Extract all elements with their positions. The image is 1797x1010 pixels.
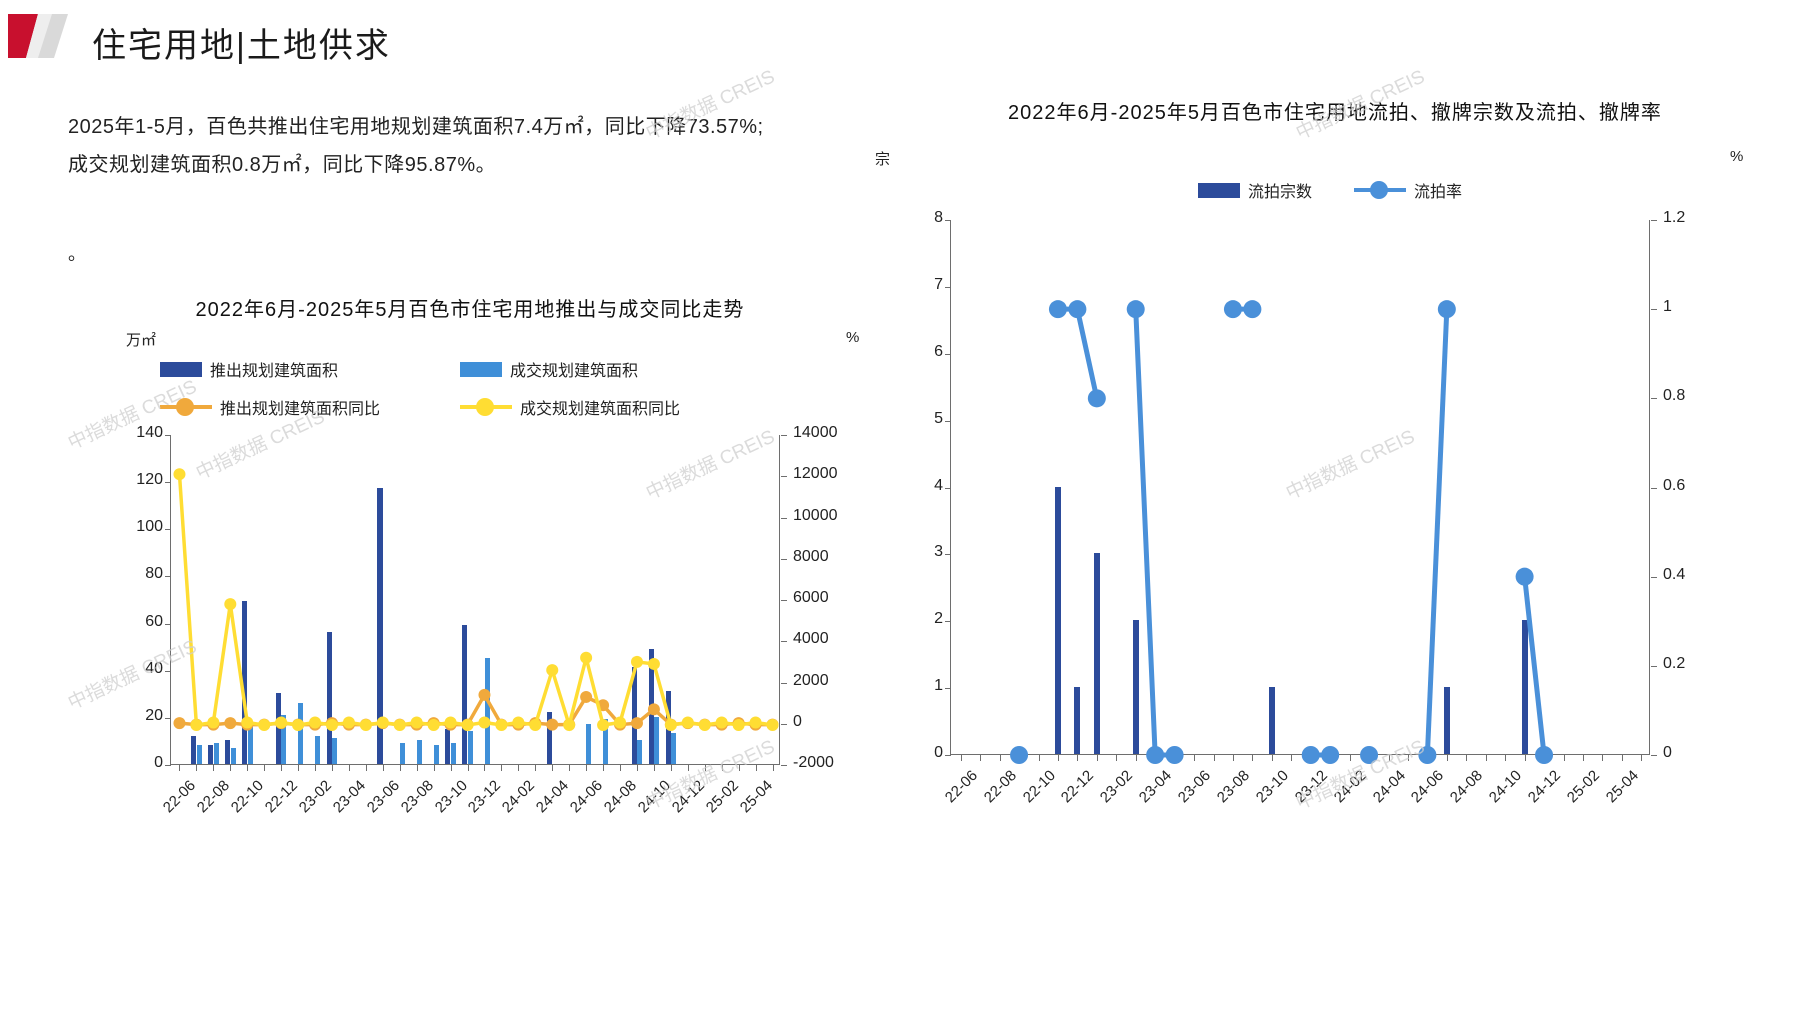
right-chart-plot: 01234567800.20.40.60.811.222-0622-0822-1…	[950, 220, 1650, 755]
data-point	[546, 719, 558, 731]
legend-item-r1[interactable]: 流拍率	[1354, 178, 1462, 202]
data-point	[478, 689, 490, 701]
x-axis-tickmark	[1505, 755, 1506, 761]
data-point	[1166, 746, 1184, 764]
y2-axis-tickmark	[781, 518, 787, 519]
data-point	[224, 717, 236, 729]
legend-swatch-line-blue	[1354, 188, 1406, 192]
data-point	[1360, 746, 1378, 764]
x-axis-tickmark	[518, 765, 519, 771]
legend-label-r0: 流拍宗数	[1248, 178, 1312, 202]
y2-axis-tick: 12000	[793, 465, 838, 483]
y2-axis-tick: 2000	[793, 672, 829, 690]
data-point	[462, 719, 474, 731]
data-point	[1010, 746, 1028, 764]
y2-axis-tick: 6000	[793, 589, 829, 607]
data-point	[546, 664, 558, 676]
x-axis-tickmark	[1389, 755, 1390, 761]
data-point	[190, 719, 202, 731]
left-chart-y2label: %	[846, 329, 859, 346]
y-axis-tick: 4	[899, 477, 943, 495]
x-axis-tickmark	[434, 765, 435, 771]
x-axis-tick-label: 23-02	[1087, 767, 1136, 816]
data-point	[1146, 746, 1164, 764]
x-axis-tickmark	[705, 765, 706, 771]
y2-axis-tickmark	[1651, 398, 1657, 399]
legend-item-r0[interactable]: 流拍宗数	[1198, 178, 1312, 202]
y-axis-tick: 3	[899, 543, 943, 561]
x-axis-tickmark	[1525, 755, 1526, 761]
x-axis-tick-label: 25-02	[1554, 767, 1603, 816]
x-axis-tickmark	[722, 765, 723, 771]
y2-axis-tickmark	[1651, 488, 1657, 489]
y-axis-tick: 120	[119, 471, 163, 489]
data-point	[1127, 300, 1145, 318]
x-axis-tickmark	[739, 765, 740, 771]
y-axis-tick: 20	[119, 707, 163, 725]
y2-axis-tickmark	[781, 559, 787, 560]
x-axis-tickmark	[671, 765, 672, 771]
data-line	[1525, 577, 1544, 755]
x-axis-tick-label: 24-02	[1321, 767, 1370, 816]
y2-axis-tickmark	[1651, 309, 1657, 310]
left-chart-ylabel: 万㎡	[126, 329, 156, 350]
data-point	[394, 719, 406, 731]
y-axis-tick: 0	[899, 744, 943, 762]
x-axis-tickmark	[501, 765, 502, 771]
x-axis-tick-label: 24-12	[1515, 767, 1564, 816]
x-axis-tickmark	[1097, 755, 1098, 761]
right-chart-title: 2022年6月-2025年5月百色市住宅用地流拍、撤牌宗数及流拍、撤牌率	[920, 98, 1750, 128]
x-axis-tickmark	[417, 765, 418, 771]
y2-axis-tickmark	[1651, 755, 1657, 756]
x-axis-tick-label: 24-10	[1476, 767, 1525, 816]
y2-axis-tick: -2000	[793, 754, 834, 772]
x-axis-tick-label: 23-04	[1126, 767, 1175, 816]
summary-text: 2025年1-5月，百色共推出住宅用地规划建筑面积7.4万㎡，同比下降73.57…	[68, 108, 768, 184]
data-point	[411, 717, 423, 729]
legend-swatch-bar-light	[460, 362, 502, 377]
y2-axis-tick: 0	[793, 713, 802, 731]
legend-label-3: 成交规划建筑面积同比	[520, 395, 680, 419]
data-point	[648, 658, 660, 670]
right-chart-y2label: %	[1730, 148, 1743, 165]
data-point	[428, 719, 440, 731]
y-axis-tick: 0	[119, 754, 163, 772]
x-axis-tickmark	[366, 765, 367, 771]
data-point	[529, 719, 541, 731]
data-point	[1224, 300, 1242, 318]
data-line	[1136, 309, 1175, 755]
data-point	[173, 717, 185, 729]
x-axis-tickmark	[349, 765, 350, 771]
legend-label-r1: 流拍率	[1414, 178, 1462, 202]
data-point	[1302, 746, 1320, 764]
x-axis-tickmark	[620, 765, 621, 771]
y-axis-tick: 100	[119, 518, 163, 536]
x-axis-tickmark	[1408, 755, 1409, 761]
x-axis-tickmark	[1233, 755, 1234, 761]
y-axis-tick: 140	[119, 424, 163, 442]
y-axis-tick: 8	[899, 209, 943, 227]
x-axis-tickmark	[1350, 755, 1351, 761]
data-line	[1058, 309, 1097, 398]
x-axis-tickmark	[1000, 755, 1001, 761]
y2-axis-tickmark	[781, 724, 787, 725]
data-point	[614, 717, 626, 729]
x-axis-tickmark	[1564, 755, 1565, 761]
x-axis-tick-label: 25-04	[1593, 767, 1642, 816]
legend-item-0[interactable]: 推出规划建筑面积	[160, 357, 460, 381]
y2-axis-tick: 10000	[793, 507, 838, 525]
legend-label-0: 推出规划建筑面积	[210, 357, 338, 381]
legend-item-1[interactable]: 成交规划建筑面积	[460, 357, 760, 381]
data-point	[292, 719, 304, 731]
x-axis-tickmark	[468, 765, 469, 771]
x-axis-tick-label: 24-08	[1437, 767, 1486, 816]
x-axis-tickmark	[1116, 755, 1117, 761]
left-chart-panel: 2022年6月-2025年5月百色市住宅用地推出与成交同比走势 万㎡ % 推出规…	[60, 295, 880, 955]
data-point	[224, 598, 236, 610]
y2-axis-tick: 0.4	[1663, 566, 1685, 584]
x-axis-tickmark	[315, 765, 316, 771]
data-point	[275, 717, 287, 729]
data-point	[1243, 300, 1261, 318]
y2-axis-tick: 0.8	[1663, 387, 1685, 405]
legend-swatch-line-yellow	[460, 405, 512, 409]
x-axis-tick-label: 22-08	[971, 767, 1020, 816]
y-axis-tick: 40	[119, 660, 163, 678]
x-axis-tickmark	[654, 765, 655, 771]
creis-logo-mark	[8, 14, 68, 58]
data-point	[1418, 746, 1436, 764]
x-axis-tickmark	[451, 765, 452, 771]
x-axis-tick-label: 23-12	[1282, 767, 1331, 816]
y-axis-tick: 7	[899, 276, 943, 294]
y-axis-tick: 6	[899, 343, 943, 361]
data-point	[631, 656, 643, 668]
data-point	[1049, 300, 1067, 318]
y-axis-tick: 80	[119, 565, 163, 583]
x-axis-tickmark	[1583, 755, 1584, 761]
x-axis-tick-label: 22-06	[932, 767, 981, 816]
x-axis-tick-label: 23-10	[1243, 767, 1292, 816]
data-point	[1535, 746, 1553, 764]
data-point	[631, 717, 643, 729]
data-point	[326, 719, 338, 731]
left-chart-plot: 020406080100120140-200002000400060008000…	[170, 435, 780, 765]
summary-text-trailing: 。	[68, 240, 86, 266]
y2-axis-tickmark	[1651, 577, 1657, 578]
y-axis-tick: 1	[899, 677, 943, 695]
x-axis-tickmark	[1602, 755, 1603, 761]
x-axis-tickmark	[1214, 755, 1215, 761]
data-point	[495, 719, 507, 731]
x-axis-tickmark	[1252, 755, 1253, 761]
x-axis-tickmark	[756, 765, 757, 771]
data-point	[1068, 300, 1086, 318]
x-axis-tickmark	[961, 755, 962, 761]
x-axis-tickmark	[264, 765, 265, 771]
data-point	[716, 717, 728, 729]
data-point	[360, 719, 372, 731]
y2-axis-tick: 1	[1663, 298, 1672, 316]
data-line	[179, 474, 772, 725]
legend-swatch-line-orange	[160, 405, 212, 409]
y2-axis-tick: 1.2	[1663, 209, 1685, 227]
data-point	[1438, 300, 1456, 318]
legend-label-2: 推出规划建筑面积同比	[220, 395, 380, 419]
x-axis-tickmark	[1058, 755, 1059, 761]
legend-item-2[interactable]: 推出规划建筑面积同比	[160, 395, 460, 419]
legend-swatch-bar-dark	[160, 362, 202, 377]
y-axis-tickmark	[945, 755, 951, 756]
x-axis-tickmark	[383, 765, 384, 771]
legend-item-3[interactable]: 成交规划建筑面积同比	[460, 395, 760, 419]
data-point	[241, 717, 253, 729]
data-point	[258, 719, 270, 731]
data-point	[309, 717, 321, 729]
page-header: 住宅用地|土地供求	[0, 0, 1797, 90]
data-point	[1516, 568, 1534, 586]
data-point	[563, 719, 575, 731]
x-axis-tickmark	[400, 765, 401, 771]
x-axis-tickmark	[196, 765, 197, 771]
x-axis-tickmark	[1486, 755, 1487, 761]
x-axis-tick-label: 23-06	[1165, 767, 1214, 816]
y2-axis-tickmark	[781, 435, 787, 436]
right-chart-panel: 2022年6月-2025年5月百色市住宅用地流拍、撤牌宗数及流拍、撤牌率 宗 %…	[900, 90, 1770, 950]
data-point	[377, 717, 389, 729]
x-axis-tickmark	[1622, 755, 1623, 761]
data-point	[207, 717, 219, 729]
data-point	[478, 717, 490, 729]
legend-label-1: 成交规划建筑面积	[510, 357, 638, 381]
x-axis-tickmark	[179, 765, 180, 771]
x-axis-tickmark	[535, 765, 536, 771]
x-axis-tickmark	[1039, 755, 1040, 761]
x-axis-tickmark	[773, 765, 774, 771]
data-point	[1321, 746, 1339, 764]
y-axis-tickmark	[165, 765, 171, 766]
data-point	[173, 468, 185, 480]
y-axis-tick: 2	[899, 610, 943, 628]
y2-axis-tickmark	[1651, 666, 1657, 667]
left-chart-title: 2022年6月-2025年5月百色市住宅用地推出与成交同比走势	[90, 295, 850, 325]
x-axis-tickmark	[688, 765, 689, 771]
page-title: 住宅用地|土地供求	[92, 18, 391, 67]
x-axis-tick-label: 24-06	[1399, 767, 1448, 816]
x-axis-tickmark	[637, 765, 638, 771]
line-overlay	[171, 435, 781, 765]
y2-axis-tickmark	[781, 641, 787, 642]
y2-axis-tick: 4000	[793, 630, 829, 648]
x-axis-tickmark	[603, 765, 604, 771]
x-axis-tickmark	[980, 755, 981, 761]
x-axis-tickmark	[281, 765, 282, 771]
x-axis-tickmark	[1641, 755, 1642, 761]
right-chart-ylabel: 宗	[875, 148, 890, 169]
data-point	[597, 719, 609, 731]
x-axis-tickmark	[552, 765, 553, 771]
y2-axis-tickmark	[781, 476, 787, 477]
data-line	[1427, 309, 1446, 755]
x-axis-tick-label: 23-08	[1204, 767, 1253, 816]
y2-axis-tick: 0.2	[1663, 655, 1685, 673]
x-axis-tickmark	[247, 765, 248, 771]
data-point	[1088, 389, 1106, 407]
x-axis-tick-label: 24-04	[1360, 767, 1409, 816]
x-axis-tick-label: 22-12	[1049, 767, 1098, 816]
y2-axis-tickmark	[781, 683, 787, 684]
data-point	[733, 719, 745, 731]
data-point	[699, 719, 711, 731]
x-axis-tickmark	[298, 765, 299, 771]
data-point	[648, 703, 660, 715]
x-axis-tickmark	[213, 765, 214, 771]
data-point	[665, 719, 677, 731]
data-point	[767, 719, 779, 731]
x-axis-tick-label: 22-10	[1010, 767, 1059, 816]
data-point	[580, 691, 592, 703]
x-axis-tickmark	[332, 765, 333, 771]
data-point	[682, 717, 694, 729]
data-point	[512, 717, 524, 729]
data-point	[445, 717, 457, 729]
y2-axis-tickmark	[1651, 220, 1657, 221]
legend-swatch-bar-blue	[1198, 183, 1240, 198]
x-axis-tickmark	[1077, 755, 1078, 761]
x-axis-tickmark	[1447, 755, 1448, 761]
y2-axis-tickmark	[781, 765, 787, 766]
y2-axis-tick: 14000	[793, 424, 838, 442]
x-axis-tickmark	[1136, 755, 1137, 761]
x-axis-tickmark	[1272, 755, 1273, 761]
x-axis-tickmark	[1466, 755, 1467, 761]
x-axis-tickmark	[1291, 755, 1292, 761]
x-axis-tickmark	[569, 765, 570, 771]
y-axis-tick: 60	[119, 613, 163, 631]
x-axis-tickmark	[586, 765, 587, 771]
y2-axis-tick: 0.6	[1663, 477, 1685, 495]
x-axis-tickmark	[484, 765, 485, 771]
x-axis-tickmark	[230, 765, 231, 771]
line-overlay	[951, 220, 1651, 755]
data-point	[750, 717, 762, 729]
data-point	[580, 652, 592, 664]
y-axis-tick: 5	[899, 410, 943, 428]
y2-axis-tick: 0	[1663, 744, 1672, 762]
x-axis-tickmark	[1194, 755, 1195, 761]
data-point	[343, 717, 355, 729]
y2-axis-tickmark	[781, 600, 787, 601]
y2-axis-tick: 8000	[793, 548, 829, 566]
